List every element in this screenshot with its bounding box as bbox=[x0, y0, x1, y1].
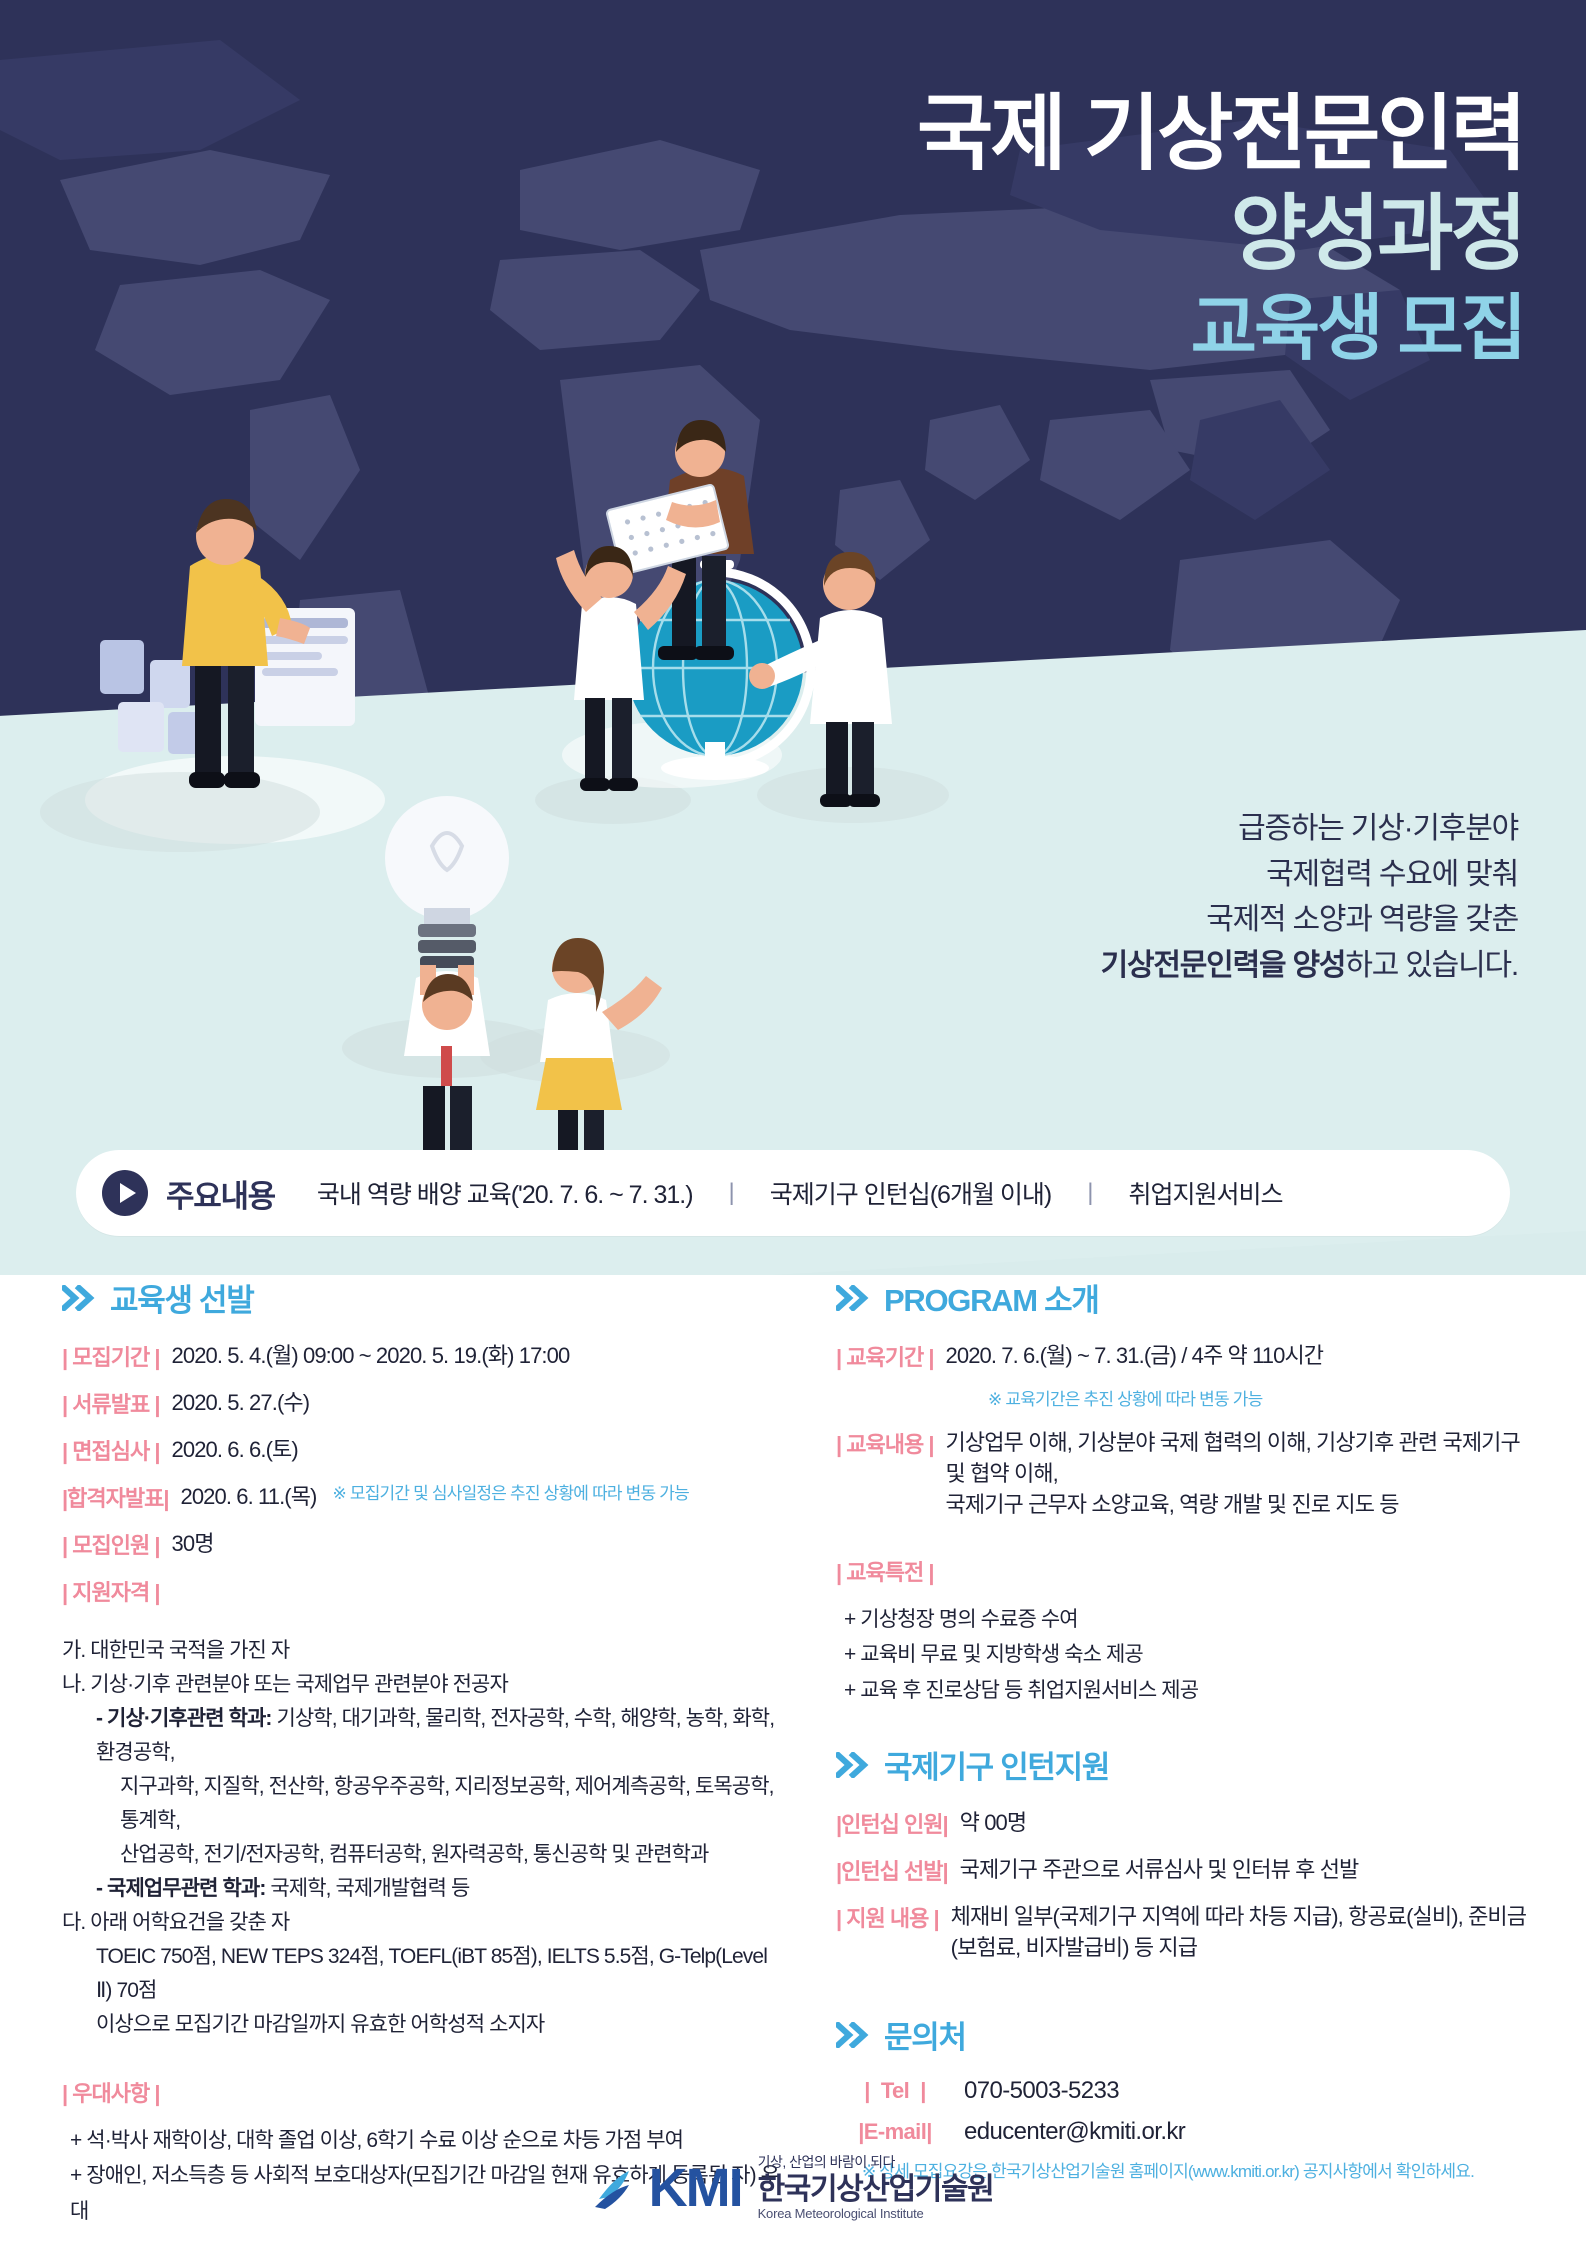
spacer-1 bbox=[62, 1622, 782, 1634]
label-training-period-text: 교육기간 bbox=[846, 1345, 923, 1370]
key-contents-items: 국내 역량 배양 교육('20. 7. 6. ~ 7. 31.) | 국제기구 … bbox=[317, 1175, 1283, 1211]
title-line-3: 교육생 모집 bbox=[917, 291, 1524, 369]
note-final-result: ※ 모집기간 및 심사일정은 추진 상황에 따라 변동 가능 bbox=[332, 1481, 688, 1507]
value-intern-headcount: 약 00명 bbox=[960, 1807, 1027, 1838]
label-eligibility: | 지원자격 | bbox=[62, 1575, 160, 1607]
double-chevron-icon bbox=[836, 1285, 870, 1311]
label-intern-selection: |인턴십 선발| bbox=[836, 1854, 948, 1886]
language-line-1: TOEIC 750점, NEW TEPS 324점, TOEFL(iBT 85점… bbox=[96, 1940, 782, 2008]
lede-rest: 하고 있습니다. bbox=[1345, 949, 1518, 982]
label-headcount-text: 모집인원 bbox=[72, 1533, 149, 1558]
kmi-slogan: 기상, 산업의 바람이 되다 bbox=[758, 2155, 994, 2170]
lede-strong: 기상전문인력을 양성 bbox=[1101, 949, 1346, 982]
label-training-content: | 교육내용 | bbox=[836, 1427, 934, 1459]
lede-line-1: 급증하는 기상·기후분야 bbox=[1101, 806, 1518, 852]
label-intern-headcount-text: 인턴십 인원 bbox=[841, 1812, 942, 1837]
field-headcount: | 모집인원 | 30명 bbox=[62, 1528, 782, 1560]
label-tel: | Tel | bbox=[836, 2078, 954, 2104]
field-doc-result: | 서류발표 | 2020. 5. 27.(수) bbox=[62, 1387, 782, 1419]
value-final-result: 2020. 6. 11.(목) bbox=[181, 1481, 317, 1512]
section-header-intern: 국제기구 인턴지원 bbox=[836, 1742, 1536, 1787]
label-intern-support: | 지원 내용 | bbox=[836, 1901, 939, 1933]
spacer-5 bbox=[836, 1708, 1536, 1742]
double-chevron-icon bbox=[836, 2022, 870, 2048]
major-line-1: - 기상·기후관련 학과: 기상학, 대기과학, 물리학, 전자공학, 수학, … bbox=[96, 1702, 782, 1770]
section-title-program: PROGRAM 소개 bbox=[884, 1275, 1099, 1320]
label-final-result: |합격자발표| bbox=[62, 1481, 169, 1513]
field-intern-support: | 지원 내용 | 체재비 일부(국제기구 지역에 따라 차등 지급), 항공료… bbox=[836, 1901, 1536, 1963]
label-interview: | 면접심사 | bbox=[62, 1434, 160, 1466]
field-intern-selection: |인턴십 선발| 국제기구 주관으로 서류심사 및 인터뷰 후 선발 bbox=[836, 1854, 1536, 1886]
note-training-period: ※ 교육기간은 추진 상황에 따라 변동 가능 bbox=[988, 1387, 1536, 1413]
intern-support-line-1: 체재비 일부(국제기구 지역에 따라 차등 지급), 항공료(실비), 준비금 bbox=[951, 1901, 1526, 1932]
content-columns: 교육생 선발 | 모집기간 | 2020. 5. 4.(월) 09:00 ~ 2… bbox=[0, 1275, 1586, 2135]
benefit-item-0: + 기상청장 명의 수료증 수여 bbox=[844, 1602, 1536, 1637]
spacer-6 bbox=[836, 1978, 1536, 2012]
label-headcount: | 모집인원 | bbox=[62, 1528, 160, 1560]
kmi-wordmark: KMI bbox=[649, 2161, 742, 2215]
title-line-2: 양성과정 bbox=[917, 189, 1524, 279]
field-training-content: | 교육내용 | 기상업무 이해, 기상분야 국제 협력의 이해, 기상기후 관… bbox=[836, 1427, 1536, 1521]
play-circle-icon bbox=[102, 1170, 148, 1216]
key-item-0: 국내 역량 배양 교육('20. 7. 6. ~ 7. 31.) bbox=[317, 1175, 693, 1211]
section-header-program: PROGRAM 소개 bbox=[836, 1275, 1536, 1320]
field-intern-headcount: |인턴십 인원| 약 00명 bbox=[836, 1807, 1536, 1839]
label-benefits: | 교육특전 | bbox=[836, 1555, 934, 1587]
value-intern-support: 체재비 일부(국제기구 지역에 따라 차등 지급), 항공료(실비), 준비금 … bbox=[951, 1901, 1526, 1963]
label-preference-text: 우대사항 bbox=[72, 2081, 149, 2106]
key-contents-bar: 주요내용 국내 역량 배양 교육('20. 7. 6. ~ 7. 31.) | … bbox=[76, 1150, 1510, 1236]
column-right: PROGRAM 소개 | 교육기간 | 2020. 7. 6.(월) ~ 7. … bbox=[836, 1275, 1536, 2185]
major-line-2: 지구과학, 지질학, 전산학, 항공우주공학, 지리정보공학, 제어계측공학, … bbox=[120, 1770, 782, 1838]
language-line-2: 이상으로 모집기간 마감일까지 유효한 어학성적 소지자 bbox=[96, 2008, 782, 2042]
label-benefits-text: 교육특전 bbox=[846, 1560, 923, 1585]
field-recruit-period: | 모집기간 | 2020. 5. 4.(월) 09:00 ~ 2020. 5.… bbox=[62, 1340, 782, 1372]
double-chevron-icon bbox=[836, 1752, 870, 1778]
value-training-period: 2020. 7. 6.(월) ~ 7. 31.(금) / 4주 약 110시간 bbox=[946, 1340, 1324, 1371]
section-title-selection: 교육생 선발 bbox=[110, 1275, 253, 1320]
benefit-item-2: + 교육 후 진로상담 등 취업지원서비스 제공 bbox=[844, 1673, 1536, 1708]
kmi-swoosh-icon bbox=[593, 2165, 633, 2211]
section-header-contact: 문의처 bbox=[836, 2012, 1536, 2057]
label-tel-text: Tel bbox=[881, 2078, 909, 2103]
label-final-result-text: 합격자발표 bbox=[67, 1486, 163, 1511]
eligibility-item-b: 나. 기상·기후 관련분야 또는 국제업무 관련분야 전공자 bbox=[62, 1668, 782, 1702]
hero-lede: 급증하는 기상·기후분야 국제협력 수요에 맞춰 국제적 소양과 역량을 갖춘 … bbox=[1101, 806, 1518, 988]
hero-section: 국제 기상전문인력 양성과정 교육생 모집 급증하는 기상·기후분야 국제협력 … bbox=[0, 0, 1586, 1275]
major-intl-line: - 국제업무관련 학과: 국제학, 국제개발협력 등 bbox=[96, 1872, 782, 1906]
kmi-name-kr: 한국기상산업기술원 bbox=[758, 2173, 994, 2206]
spacer-2 bbox=[62, 2042, 782, 2076]
language-heading: 다. 아래 어학요건을 갖춘 자 bbox=[62, 1906, 782, 1940]
label-training-period: | 교육기간 | bbox=[836, 1340, 934, 1372]
field-benefits: | 교육특전 | bbox=[836, 1555, 1536, 1587]
label-doc-result-text: 서류발표 bbox=[72, 1392, 149, 1417]
eligibility-item-a: 가. 대한민국 국적을 가진 자 bbox=[62, 1634, 782, 1668]
value-headcount: 30명 bbox=[172, 1528, 214, 1559]
label-training-content-text: 교육내용 bbox=[846, 1432, 923, 1457]
label-intern-support-text: 지원 내용 bbox=[846, 1906, 928, 1931]
label-recruit-period-text: 모집기간 bbox=[72, 1345, 149, 1370]
key-sep-1: | bbox=[729, 1179, 734, 1207]
major-intl-label: - 국제업무관련 학과: bbox=[96, 1877, 265, 1900]
value-training-content: 기상업무 이해, 기상분야 국제 협력의 이해, 기상기후 관련 국제기구 및 … bbox=[946, 1427, 1536, 1521]
intern-support-line-2: (보험료, 비자발급비) 등 지급 bbox=[951, 1932, 1526, 1963]
label-eligibility-text: 지원자격 bbox=[72, 1580, 149, 1605]
major-line-3: 산업공학, 전기/전자공학, 컴퓨터공학, 원자력공학, 통신공학 및 관련학과 bbox=[120, 1838, 782, 1872]
label-interview-text: 면접심사 bbox=[72, 1439, 149, 1464]
value-doc-result: 2020. 5. 27.(수) bbox=[172, 1387, 310, 1418]
label-recruit-period: | 모집기간 | bbox=[62, 1340, 160, 1372]
major-intl-list: 국제학, 국제개발협력 등 bbox=[265, 1877, 469, 1900]
section-title-contact: 문의처 bbox=[884, 2012, 966, 2057]
key-item-1: 국제기구 인턴십(6개월 이내) bbox=[770, 1175, 1051, 1211]
spacer-4 bbox=[836, 1535, 1536, 1555]
value-tel[interactable]: 070-5003-5233 bbox=[964, 2077, 1119, 2105]
kmi-name-block: 기상, 산업의 바람이 되다 한국기상산업기술원 Korea Meteorolo… bbox=[758, 2155, 994, 2221]
key-contents-label: 주요내용 bbox=[166, 1171, 275, 1216]
field-training-period: | 교육기간 | 2020. 7. 6.(월) ~ 7. 31.(금) / 4주… bbox=[836, 1340, 1536, 1372]
lede-line-4: 기상전문인력을 양성하고 있습니다. bbox=[1101, 943, 1518, 989]
double-chevron-icon bbox=[62, 1285, 96, 1311]
label-intern-headcount: |인턴십 인원| bbox=[836, 1807, 948, 1839]
value-recruit-period: 2020. 5. 4.(월) 09:00 ~ 2020. 5. 19.(화) 1… bbox=[172, 1340, 570, 1371]
value-interview: 2020. 6. 6.(토) bbox=[172, 1434, 298, 1465]
lede-line-2: 국제협력 수요에 맞춰 bbox=[1101, 852, 1518, 898]
section-header-selection: 교육생 선발 bbox=[62, 1275, 782, 1320]
label-preference: | 우대사항 | bbox=[62, 2076, 160, 2108]
training-content-line-1: 기상업무 이해, 기상분야 국제 협력의 이해, 기상기후 관련 국제기구 및 … bbox=[946, 1427, 1536, 1489]
label-doc-result: | 서류발표 | bbox=[62, 1387, 160, 1419]
field-preference: | 우대사항 | bbox=[62, 2076, 782, 2108]
title-line-1: 국제 기상전문인력 bbox=[917, 92, 1524, 175]
benefit-item-1: + 교육비 무료 및 지방학생 숙소 제공 bbox=[844, 1637, 1536, 1672]
poster-root: 국제 기상전문인력 양성과정 교육생 모집 급증하는 기상·기후분야 국제협력 … bbox=[0, 0, 1586, 2244]
key-sep-2: | bbox=[1087, 1179, 1092, 1207]
training-content-line-2: 국제기구 근무자 소양교육, 역량 개발 및 진로 지도 등 bbox=[946, 1489, 1536, 1520]
field-eligibility: | 지원자격 | bbox=[62, 1575, 782, 1607]
key-item-2: 취업지원서비스 bbox=[1128, 1175, 1282, 1211]
field-interview: | 면접심사 | 2020. 6. 6.(토) bbox=[62, 1434, 782, 1466]
contact-tel-row: | Tel | 070-5003-5233 bbox=[836, 2077, 1536, 2105]
section-title-intern: 국제기구 인턴지원 bbox=[884, 1742, 1109, 1787]
field-final-result: |합격자발표| 2020. 6. 11.(목) ※ 모집기간 및 심사일정은 추… bbox=[62, 1481, 782, 1513]
column-left: 교육생 선발 | 모집기간 | 2020. 5. 4.(월) 09:00 ~ 2… bbox=[62, 1275, 782, 2244]
major-label: - 기상·기후관련 학과: bbox=[96, 1707, 272, 1730]
lede-line-3: 국제적 소양과 역량을 갖춘 bbox=[1101, 897, 1518, 943]
poster-title: 국제 기상전문인력 양성과정 교육생 모집 bbox=[917, 92, 1524, 368]
footer-logo-bar: KMI 기상, 산업의 바람이 되다 한국기상산업기술원 Korea Meteo… bbox=[0, 2132, 1586, 2244]
kmi-name-en: Korea Meteorological Institute bbox=[758, 2207, 994, 2221]
value-intern-selection: 국제기구 주관으로 서류심사 및 인터뷰 후 선발 bbox=[960, 1854, 1359, 1885]
label-intern-selection-text: 인턴십 선발 bbox=[841, 1859, 942, 1884]
